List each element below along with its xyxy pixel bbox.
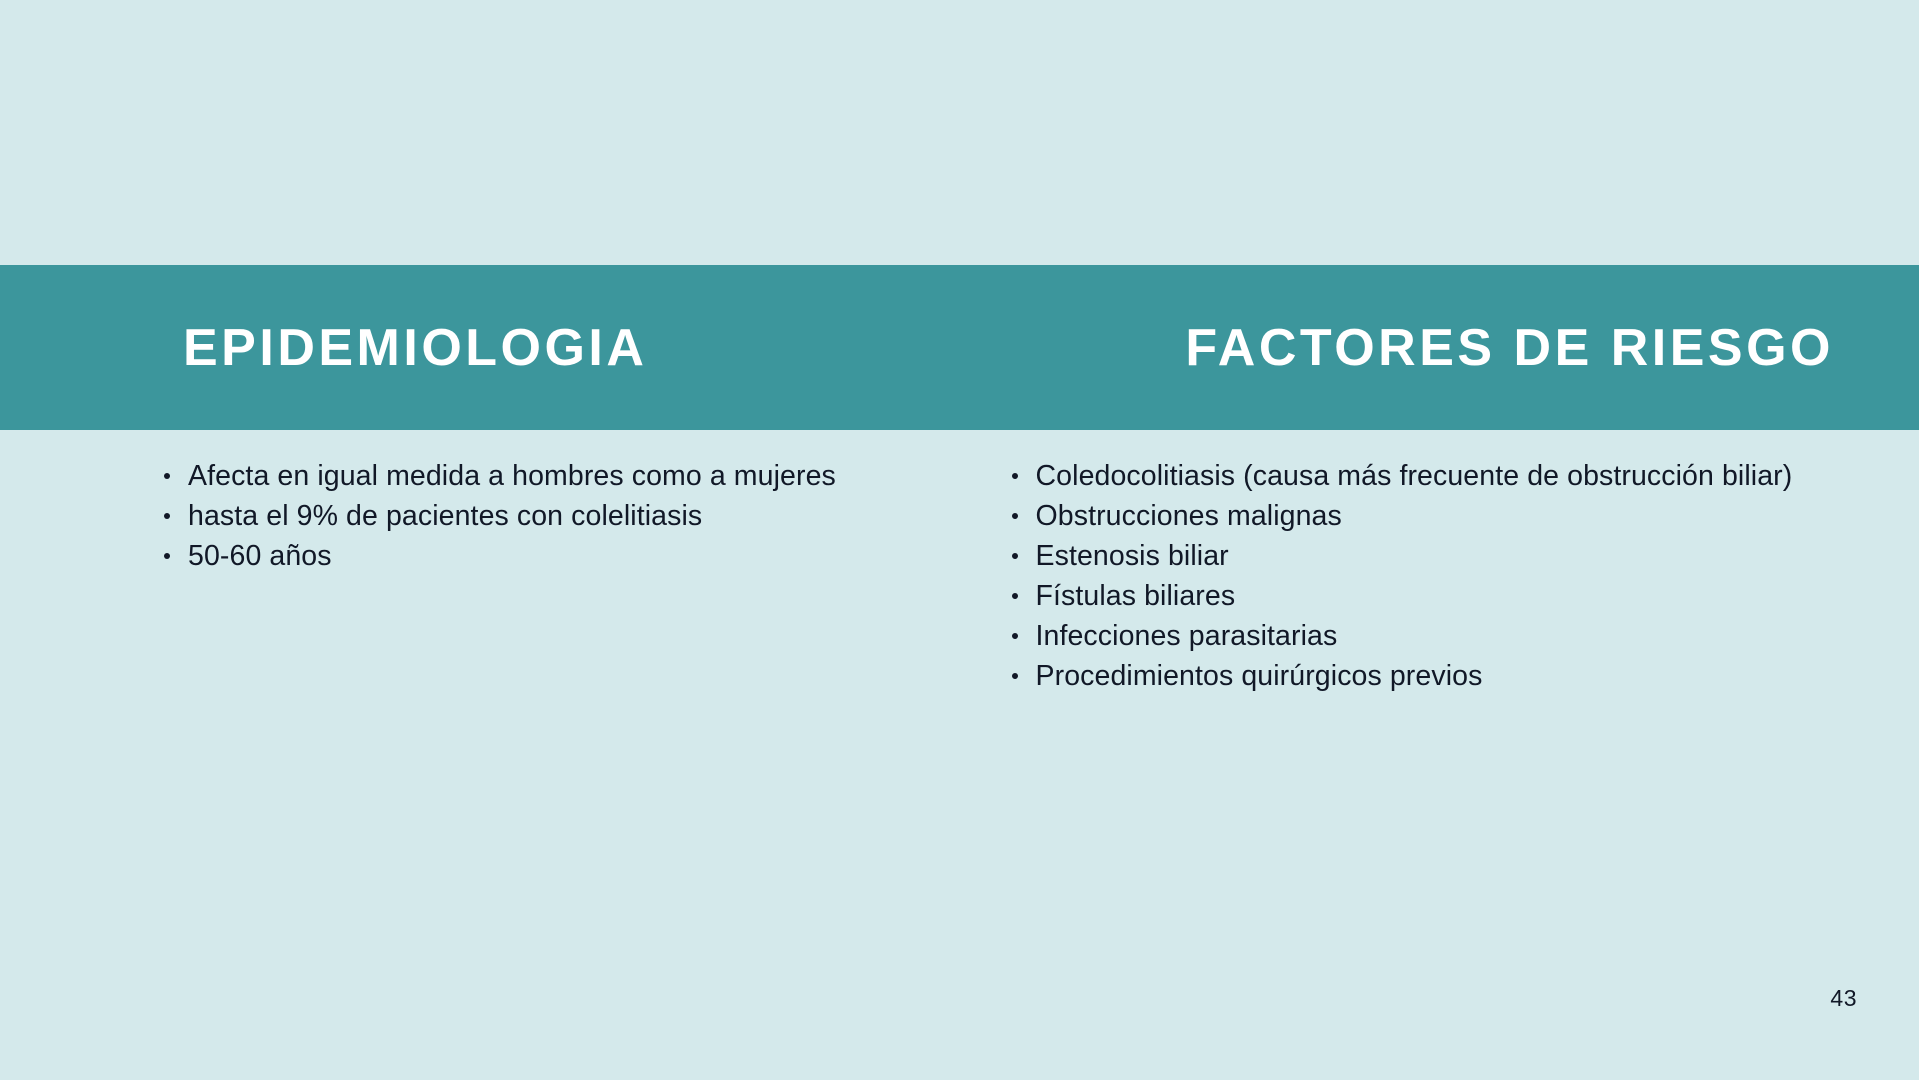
list-item-text: Estenosis biliar: [1036, 540, 1229, 572]
content-columns: Afecta en igual medida a hombres como a …: [0, 430, 1919, 950]
list-item-text: Procedimientos quirúrgicos previos: [1036, 660, 1483, 692]
list-item-text: 50-60 años: [188, 540, 332, 572]
list-item: Infecciones parasitarias: [1008, 616, 1800, 656]
section-heading-right: FACTORES DE RIESGO: [1185, 322, 1834, 374]
list-item: Procedimientos quirúrgicos previos: [1008, 656, 1800, 696]
list-item-text: Infecciones parasitarias: [1036, 620, 1338, 652]
list-item: Afecta en igual medida a hombres como a …: [160, 456, 840, 496]
list-item-text: Afecta en igual medida a hombres como a …: [188, 460, 836, 492]
heading-cell-factores-de-riesgo: FACTORES DE RIESGO: [960, 322, 1919, 374]
list-item-text: Fístulas biliares: [1036, 580, 1236, 612]
list-item: Obstrucciones malignas: [1008, 496, 1800, 536]
column-factores-de-riesgo: Coledocolitiasis (causa más frecuente de…: [960, 430, 1919, 950]
bullet-dot-icon: [1012, 633, 1018, 639]
bullet-dot-icon: [164, 553, 170, 559]
list-item: Coledocolitiasis (causa más frecuente de…: [1008, 456, 1800, 496]
bullet-dot-icon: [1012, 473, 1018, 479]
section-heading-left: EPIDEMIOLOGIA: [183, 322, 647, 374]
list-item: Estenosis biliar: [1008, 536, 1800, 576]
bullet-dot-icon: [164, 473, 170, 479]
list-item: hasta el 9% de pacientes con colelitiasi…: [160, 496, 840, 536]
bullet-list-epidemiologia: Afecta en igual medida a hombres como a …: [160, 456, 840, 576]
bullet-dot-icon: [1012, 553, 1018, 559]
bullet-dot-icon: [1012, 673, 1018, 679]
bullet-list-factores-de-riesgo: Coledocolitiasis (causa más frecuente de…: [1008, 456, 1800, 696]
column-epidemiologia: Afecta en igual medida a hombres como a …: [0, 430, 960, 950]
heading-band: EPIDEMIOLOGIA FACTORES DE RIESGO: [0, 265, 1919, 430]
bullet-dot-icon: [1012, 513, 1018, 519]
slide-canvas: EPIDEMIOLOGIA FACTORES DE RIESGO Afecta …: [0, 0, 1919, 1080]
bullet-dot-icon: [1012, 593, 1018, 599]
heading-cell-epidemiologia: EPIDEMIOLOGIA: [0, 322, 960, 374]
bullet-dot-icon: [164, 513, 170, 519]
list-item: 50-60 años: [160, 536, 840, 576]
list-item-text: Obstrucciones malignas: [1036, 500, 1342, 532]
list-item-text: Coledocolitiasis (causa más frecuente de…: [1036, 460, 1793, 492]
page-number: 43: [1830, 985, 1857, 1012]
list-item-text: hasta el 9% de pacientes con colelitiasi…: [188, 500, 702, 532]
list-item: Fístulas biliares: [1008, 576, 1800, 616]
